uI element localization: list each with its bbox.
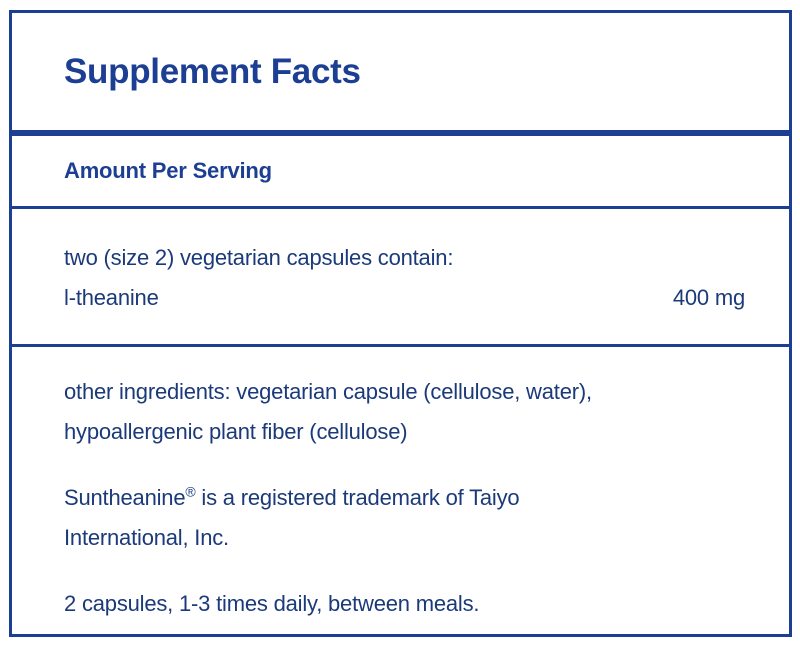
- supplement-facts-label: Supplement Facts Amount Per Serving two …: [0, 0, 800, 651]
- other-ingredients-note: other ingredients: vegetarian capsule (c…: [64, 372, 745, 452]
- trademark-brand-name: Suntheanine: [64, 485, 185, 510]
- ingredient-name: l-theanine: [64, 278, 159, 318]
- trademark-line-1-rest: is a registered trademark of Taiyo: [195, 485, 519, 510]
- supplement-facts-panel: Supplement Facts Amount Per Serving two …: [9, 10, 792, 637]
- footer-notes-row: other ingredients: vegetarian capsule (c…: [12, 347, 789, 624]
- trademark-line-1: Suntheanine® is a registered trademark o…: [64, 478, 745, 518]
- table-row: l-theanine 400 mg: [64, 278, 745, 318]
- page-title: Supplement Facts: [64, 54, 361, 89]
- serving-statement: two (size 2) vegetarian capsules contain…: [64, 238, 745, 278]
- serving-and-ingredients-row: two (size 2) vegetarian capsules contain…: [12, 209, 789, 344]
- other-ingredients-line-1: other ingredients: vegetarian capsule (c…: [64, 372, 745, 412]
- amount-per-serving-heading: Amount Per Serving: [64, 160, 272, 182]
- trademark-line-2: International, Inc.: [64, 518, 745, 558]
- trademark-notice: Suntheanine® is a registered trademark o…: [64, 478, 745, 558]
- ingredient-amount: 400 mg: [673, 278, 745, 318]
- registered-trademark-icon: ®: [185, 484, 195, 500]
- amount-per-serving-row: Amount Per Serving: [12, 136, 789, 206]
- directions-note: 2 capsules, 1-3 times daily, between mea…: [64, 584, 745, 624]
- other-ingredients-line-2: hypoallergenic plant fiber (cellulose): [64, 412, 745, 452]
- title-row: Supplement Facts: [12, 13, 789, 130]
